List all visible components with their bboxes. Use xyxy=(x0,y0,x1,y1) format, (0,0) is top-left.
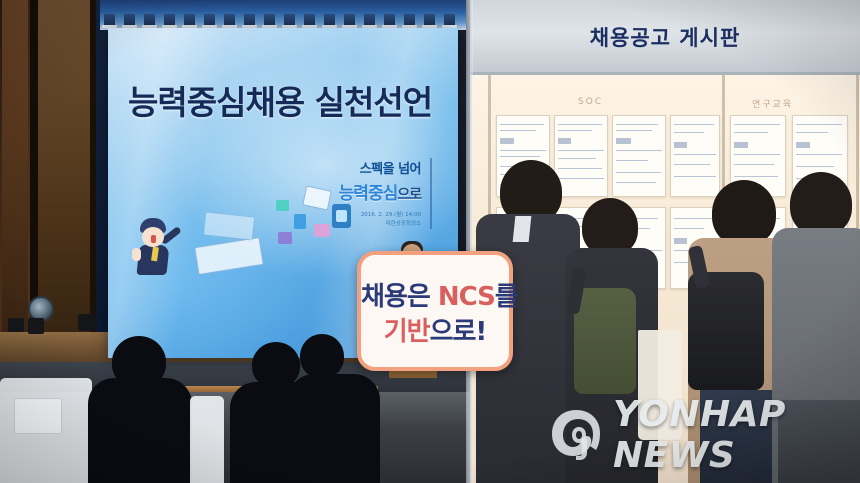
callout-line-2: 기반으로! xyxy=(361,311,509,348)
banner-clip-icon xyxy=(404,14,415,27)
backpack xyxy=(574,288,636,394)
viewer-collar xyxy=(513,216,532,242)
banner-title: 능력중심채용 실천선언 xyxy=(128,76,446,124)
board-column-label-soc: SOC xyxy=(578,97,603,107)
callout-bubble: 채용은 NCS를 기반으로! xyxy=(357,251,513,371)
banner-clip-icon xyxy=(344,14,355,27)
document-graphic-icon xyxy=(203,211,255,240)
banner-clip-icon xyxy=(224,14,235,27)
banner-clip-icon xyxy=(324,14,335,27)
news-image-canvas: 능력중심채용 실천선언 스펙을 넘어 능력중심으로 2016. 2. 29.(월… xyxy=(0,0,860,483)
composite-seam xyxy=(466,0,473,483)
conference-hall-scene: 능력중심채용 실천선언 스펙을 넘어 능력중심으로 2016. 2. 29.(월… xyxy=(0,0,470,483)
audience-head xyxy=(300,334,344,378)
job-notice xyxy=(670,115,720,197)
mascot-illustration-icon xyxy=(130,218,182,280)
banner-clip-icon xyxy=(384,14,395,27)
kiosk-screen-icon xyxy=(336,210,347,222)
banner-clip-icon xyxy=(444,14,455,27)
callout-text-chaeyongeun: 채용은 xyxy=(361,282,438,312)
banner-clip-icon xyxy=(164,14,175,27)
board-sign-title: 채용공고 게시판 xyxy=(470,22,860,52)
audience-body xyxy=(288,374,380,483)
callout-line-1: 채용은 NCS를 xyxy=(361,276,509,313)
yonhap-swirl-logo-icon xyxy=(548,407,604,463)
banner-date-line1: 2016. 2. 29.(월) 14:00 xyxy=(339,211,421,219)
banner-subtitle-tail: 으로 xyxy=(397,187,421,203)
banner-clip-icon xyxy=(364,14,375,27)
banner-rail xyxy=(100,0,466,30)
board-sign-header: 채용공고 게시판 xyxy=(470,0,860,75)
card-graphic-icon xyxy=(314,224,330,237)
card-graphic-icon xyxy=(278,232,292,244)
yonhap-watermark: YONHAP NEWS xyxy=(548,404,853,466)
banner-clip-icon xyxy=(104,14,115,27)
banner-clip-icon xyxy=(124,14,135,27)
banner-clip-icon xyxy=(304,14,315,27)
banner-subtitle-line1: 스펙을 넘어 xyxy=(339,158,421,177)
job-notice xyxy=(612,115,666,197)
card-graphic-icon xyxy=(294,214,306,229)
callout-text-giban: 기반 xyxy=(384,317,430,347)
banner-clip-icon xyxy=(184,14,195,27)
seat-card xyxy=(14,398,62,434)
callout-text-euro: 으로! xyxy=(430,317,487,347)
yonhap-watermark-text: YONHAP NEWS xyxy=(613,394,853,476)
audience-body xyxy=(88,378,192,483)
stage-light-icon xyxy=(78,314,97,331)
backpack xyxy=(688,272,764,390)
banner-clip-icon xyxy=(244,14,255,27)
viewer-head xyxy=(712,180,776,246)
banner-clip-icon xyxy=(284,14,295,27)
banner-subtitle-accent: 능력중심 xyxy=(339,184,398,204)
board-column-label-research: 연구교육 xyxy=(752,97,793,110)
banner-clip-icon xyxy=(204,14,215,27)
callout-text-reul: 를 xyxy=(495,282,518,312)
banner-clip-icon xyxy=(264,14,275,27)
banner-subtitle-block: 스펙을 넘어 능력중심으로 2016. 2. 29.(월) 14:00 대한상공… xyxy=(339,158,432,229)
stage-light-icon xyxy=(8,318,24,332)
card-graphic-icon xyxy=(276,200,289,211)
viewer-head xyxy=(790,172,852,236)
job-notice xyxy=(554,115,608,197)
wall-panel xyxy=(2,0,28,360)
banner-clip-icon xyxy=(144,14,155,27)
banner-venue-line: 대한상공회의소 xyxy=(339,220,421,228)
light-stand xyxy=(28,318,44,334)
callout-text-ncs: NCS xyxy=(438,282,495,312)
banner-clip-icon xyxy=(424,14,435,27)
chair-back xyxy=(190,396,224,483)
banner-subtitle-line2: 능력중심으로 xyxy=(339,179,421,204)
